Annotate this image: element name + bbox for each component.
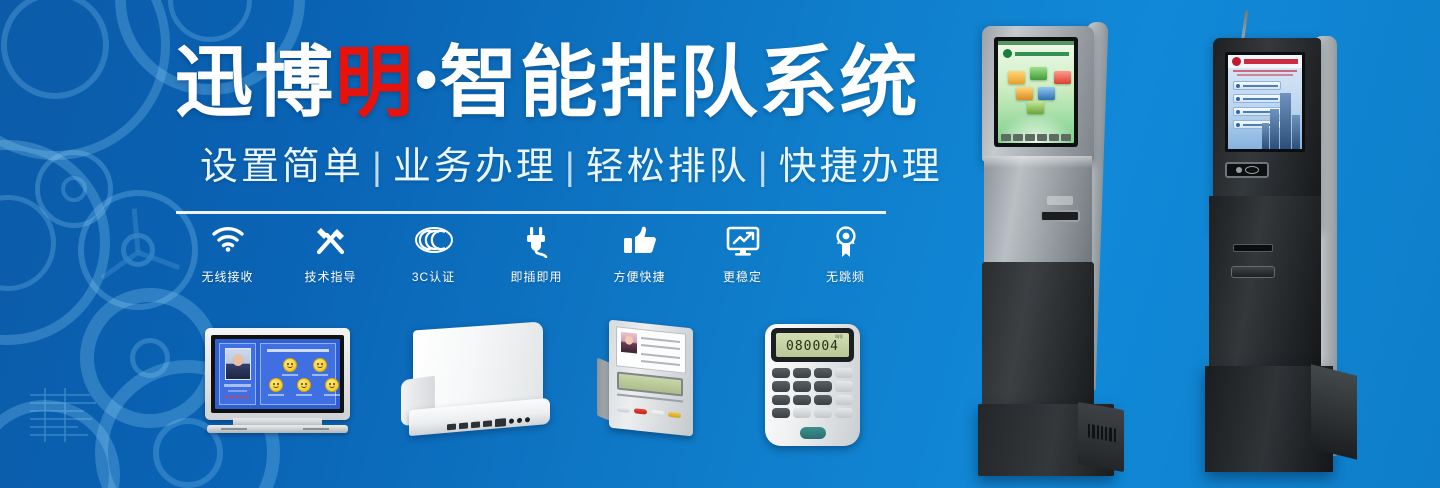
thumbs-up-icon	[617, 226, 663, 262]
bank-logo-icbc	[1228, 55, 1302, 68]
staff-name-line	[224, 384, 251, 387]
kiosk-card-reader[interactable]	[1225, 162, 1269, 178]
feature-label: 3C认证	[412, 268, 455, 285]
divider	[176, 211, 886, 214]
kiosk-head	[982, 26, 1094, 162]
kiosk-side-panel	[1311, 364, 1357, 459]
product-desktop-evaluator	[595, 320, 705, 445]
kiosk-ticket-slot[interactable]	[1040, 210, 1080, 222]
rating-face[interactable]	[325, 378, 339, 392]
subtitle-item-4: 快捷办理	[779, 146, 943, 188]
kiosk-brand-mark	[1047, 196, 1073, 205]
evaluator-id-card	[616, 326, 686, 373]
caller-lcd: 叫号 080004	[776, 333, 849, 357]
rating-face-label	[282, 374, 298, 376]
rating-panel-title	[267, 349, 329, 352]
subtitle-item-1: 设置简单	[200, 146, 364, 188]
evaluator-button[interactable]	[668, 412, 681, 418]
caller-keypad[interactable]	[772, 368, 853, 418]
rating-face[interactable]	[313, 358, 327, 372]
feature-item-no-frequency-hopping: 无跳频	[794, 226, 897, 285]
monitor-screen-content	[215, 339, 340, 409]
kiosk-screen-topbar	[998, 41, 1074, 45]
kiosk-notice-line	[1237, 74, 1293, 76]
feature-label: 更稳定	[723, 268, 762, 285]
kiosk-notice-line	[1233, 70, 1297, 72]
caller-display-housing: 叫号 080004	[771, 328, 854, 362]
feature-item-ccc-certified: 3C认证	[382, 226, 485, 285]
product-queue-kiosk-black	[1195, 10, 1395, 488]
feature-item-convenient: 方便快捷	[588, 226, 691, 285]
headline-part1: 迅博	[175, 38, 335, 126]
headline-highlight: 明	[335, 38, 415, 126]
staff-photo-card	[219, 343, 256, 405]
subtitle-separator: |	[565, 146, 578, 188]
ccc-certification-icon	[411, 226, 457, 262]
wifi-icon	[205, 226, 251, 262]
kiosk-menu-tile[interactable]	[1008, 71, 1025, 84]
page-title: 迅博明•智能排队系统	[175, 38, 919, 123]
rating-face[interactable]	[283, 358, 297, 372]
kiosk-skyline-image	[1262, 89, 1300, 149]
circuit-pattern-icon	[30, 388, 100, 446]
monitor-bezel	[205, 328, 350, 420]
kiosk-screen-content	[1228, 55, 1302, 149]
rating-face-label	[268, 394, 284, 396]
feature-item-stable: 更稳定	[691, 226, 794, 285]
kiosk-menu-tile[interactable]	[1038, 87, 1055, 100]
feature-item-plug-and-play: 即插即用	[485, 226, 588, 285]
subtitle-item-3: 轻松排队	[586, 146, 750, 188]
tools-icon	[308, 226, 354, 262]
rating-face-label	[324, 394, 340, 396]
feature-item-technical-support: 技术指导	[279, 226, 382, 285]
id-card-photo	[621, 332, 637, 354]
evaluator-button[interactable]	[634, 408, 647, 414]
rating-face[interactable]	[297, 378, 311, 392]
product-showcase: 叫号 080004	[195, 320, 895, 450]
feature-list: 无线接收 技术指导 3C认证	[176, 226, 892, 288]
feature-label: 即插即用	[510, 268, 562, 285]
plug-icon	[514, 226, 560, 262]
monitor-base	[207, 425, 348, 433]
staff-photo	[225, 348, 251, 380]
kiosk-menu-tile[interactable]	[1030, 67, 1047, 80]
rating-stars	[225, 395, 249, 399]
bank-logo-abc	[1003, 49, 1069, 58]
kiosk-menu-tile[interactable]	[1016, 87, 1033, 100]
headline-dot: •	[415, 43, 439, 115]
feature-label: 无跳频	[826, 268, 865, 285]
monitor-chart-icon	[720, 226, 766, 262]
feature-label: 方便快捷	[613, 268, 665, 285]
product-host-controller	[395, 326, 550, 444]
subtitle-item-2: 业务办理	[393, 146, 557, 188]
kiosk-ticket-slot[interactable]	[1233, 244, 1273, 252]
subtitle-separator: |	[758, 146, 771, 188]
monitor-screen	[211, 335, 344, 413]
feature-label: 技术指导	[304, 268, 356, 285]
award-ribbon-icon	[823, 226, 869, 262]
caller-call-button[interactable]	[800, 427, 826, 439]
rating-panel	[260, 343, 336, 405]
feature-label: 无线接收	[201, 268, 253, 285]
rating-face-label	[296, 394, 312, 396]
product-banner: 迅博明•智能排队系统 设置简单|业务办理|轻松排队|快捷办理 无线接收	[0, 0, 1440, 488]
kiosk-screen-content	[998, 41, 1074, 143]
kiosk-screen-buttonbar	[1001, 134, 1071, 141]
evaluator-button[interactable]	[651, 410, 664, 416]
caller-number-display: 080004	[776, 339, 849, 354]
kiosk-brand-plate	[1231, 266, 1275, 278]
rating-face-group	[265, 358, 331, 400]
subtitle-separator: |	[372, 146, 385, 188]
kiosk-menu-tile[interactable]	[1054, 71, 1071, 84]
product-queue-kiosk-silver	[960, 14, 1160, 488]
product-handheld-caller: 叫号 080004	[765, 324, 860, 446]
feature-item-wireless: 无线接收	[176, 226, 279, 285]
kiosk-screen[interactable]	[994, 37, 1078, 147]
staff-id-line	[228, 390, 247, 392]
rating-face-label	[312, 374, 328, 376]
headline-part2: 智能排队系统	[439, 38, 919, 126]
kiosk-screen[interactable]	[1225, 52, 1305, 152]
rating-face[interactable]	[269, 378, 283, 392]
evaluator-button[interactable]	[617, 406, 630, 412]
subtitle: 设置简单|业务办理|轻松排队|快捷办理	[200, 145, 943, 189]
kiosk-menu-tiles	[1004, 65, 1068, 113]
product-evaluation-monitor	[205, 328, 350, 440]
